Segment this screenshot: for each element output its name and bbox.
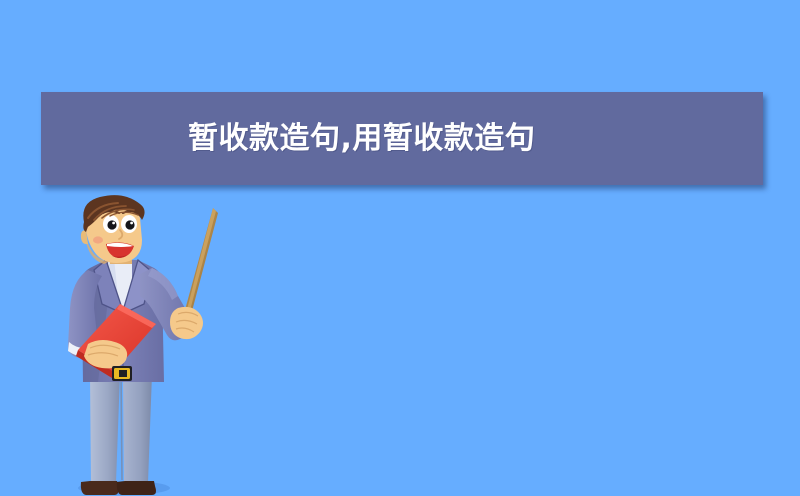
title-banner: 暂收款造句,用暂收款造句 bbox=[41, 92, 763, 185]
cheek-blush bbox=[93, 236, 103, 243]
teacher-illustration bbox=[28, 196, 218, 496]
belt-buckle bbox=[112, 366, 132, 381]
trousers bbox=[90, 372, 152, 482]
right-hand bbox=[170, 307, 203, 339]
page-root: 暂收款造句,用暂收款造句 bbox=[0, 0, 800, 496]
page-title: 暂收款造句,用暂收款造句 bbox=[188, 124, 535, 154]
